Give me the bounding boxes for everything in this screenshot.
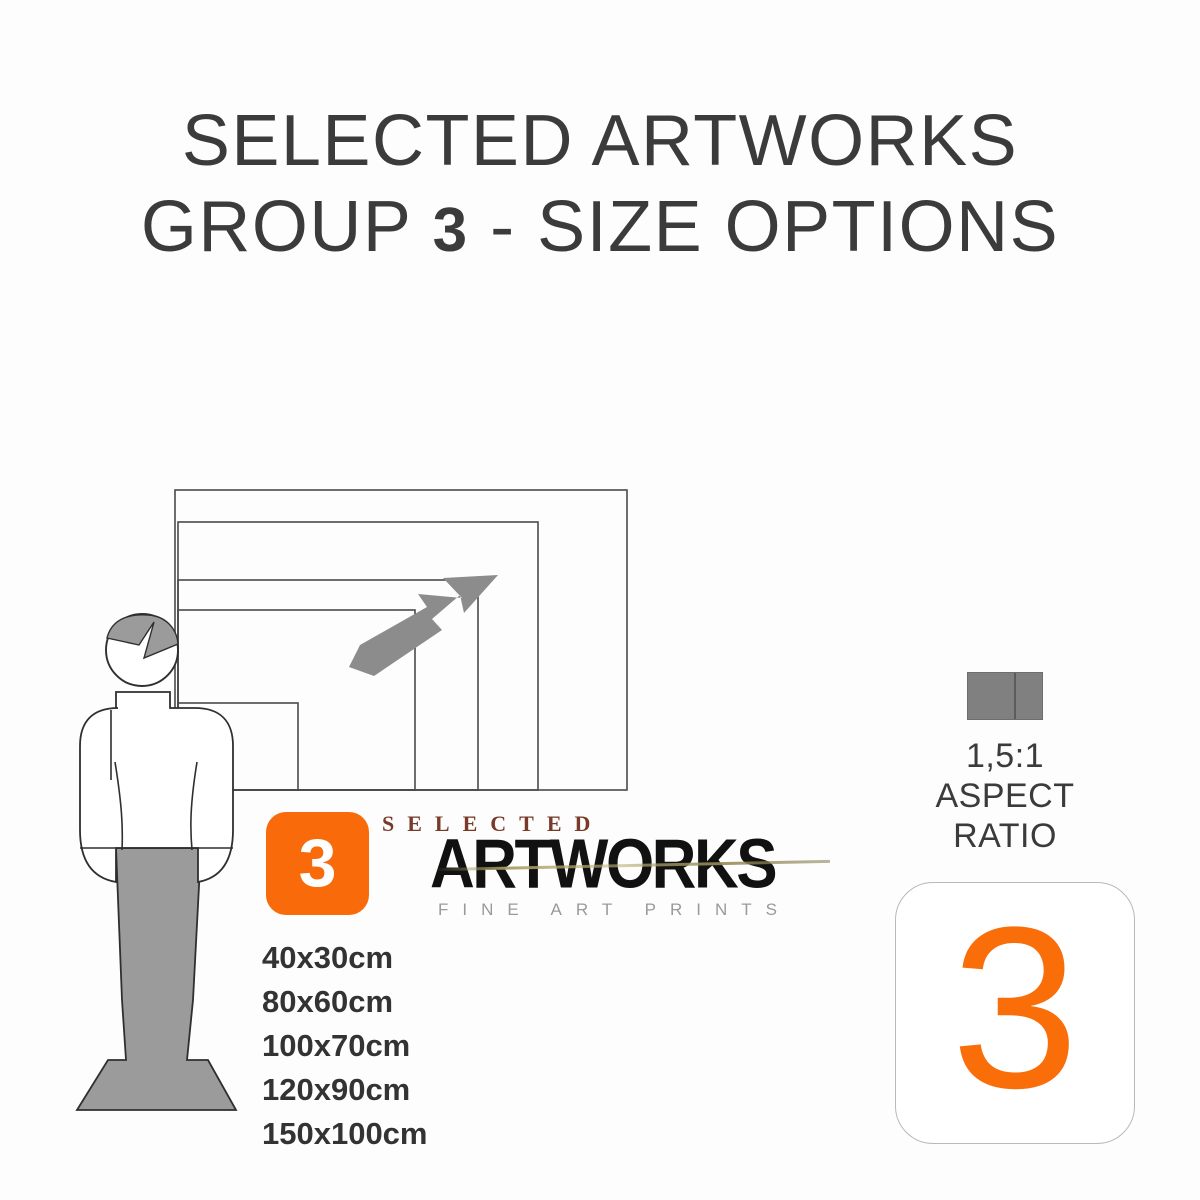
aspect-label-line1: ASPECT <box>880 776 1130 816</box>
aspect-ratio-value: 1,5:1 <box>880 736 1130 776</box>
title-group-number: 3 <box>433 196 469 265</box>
aspect-divider-line <box>1014 673 1016 719</box>
wordmark-tagline: FINE ART PRINTS <box>438 900 791 920</box>
aspect-ratio-panel: 1,5:1 ASPECT RATIO <box>880 672 1130 856</box>
aspect-ratio-text: 1,5:1 ASPECT RATIO <box>880 736 1130 856</box>
poster-canvas: SELECTED ARTWORKS GROUP 3 - SIZE OPTIONS <box>0 0 1200 1200</box>
list-item[interactable]: 120x90cm <box>262 1068 582 1112</box>
person-scale-figure <box>30 600 280 1160</box>
group-badge: 3 <box>266 812 369 915</box>
group-number-card: 3 <box>895 882 1135 1144</box>
title-line-1: SELECTED ARTWORKS <box>0 98 1200 184</box>
list-item[interactable]: 80x60cm <box>262 980 582 1024</box>
brand-logo-block: 3 SELECTED ARTWORKS FINE ART PRINTS <box>266 808 836 923</box>
aspect-label-line2: RATIO <box>880 816 1130 856</box>
list-item[interactable]: 150x100cm <box>262 1112 582 1156</box>
title-line-2: GROUP 3 - SIZE OPTIONS <box>0 184 1200 274</box>
page-title: SELECTED ARTWORKS GROUP 3 - SIZE OPTIONS <box>0 98 1200 274</box>
list-item[interactable]: 40x30cm <box>262 936 582 980</box>
growth-arrow-icon <box>349 575 498 676</box>
size-options-list: 40x30cm 80x60cm 100x70cm 120x90cm 150x10… <box>262 936 582 1156</box>
list-item[interactable]: 100x70cm <box>262 1024 582 1068</box>
artworks-wordmark: SELECTED ARTWORKS FINE ART PRINTS <box>382 808 832 920</box>
title-size-options-suffix: - SIZE OPTIONS <box>469 187 1060 267</box>
aspect-ratio-icon <box>967 672 1043 720</box>
person-trousers <box>77 848 236 1110</box>
group-card-number: 3 <box>896 883 1134 1143</box>
title-group-prefix: GROUP <box>141 187 433 267</box>
